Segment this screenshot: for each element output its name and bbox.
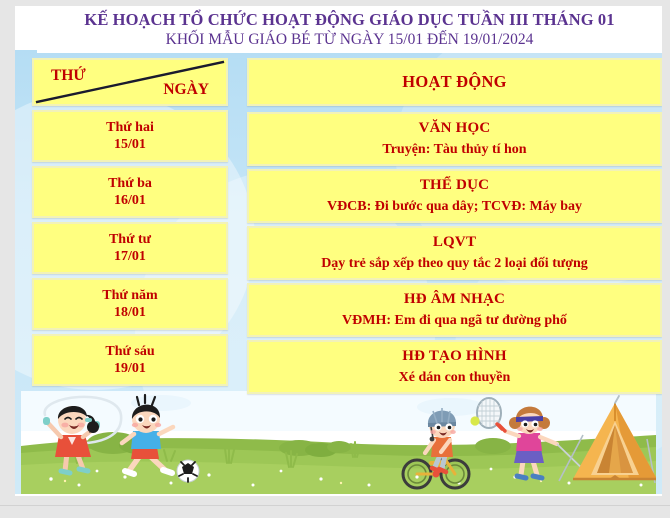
table-header-day-label: THỨ xyxy=(51,67,86,85)
activity-subtitle: VĐCB: Đi bước qua dây; TCVĐ: Máy bay xyxy=(327,198,582,216)
children-playing-illustration xyxy=(21,391,656,494)
table-row: THỂ DỤC VĐCB: Đi bước qua dây; TCVĐ: Máy… xyxy=(247,169,662,223)
table-header-date-label: NGÀY xyxy=(163,81,209,99)
title-banner: KẾ HOẠCH TỔ CHỨC HOẠT ĐỘNG GIÁO DỤC TUẦN… xyxy=(37,6,662,53)
table-header-day-date-cell: THỨ NGÀY xyxy=(32,58,228,106)
activity-subtitle: Xé dán con thuyền xyxy=(399,369,511,387)
activity-title: LQVT xyxy=(433,233,476,253)
page-frame-right xyxy=(662,0,670,518)
page-frame-left xyxy=(0,0,15,518)
table-header-activity-cell: HOẠT ĐỘNG xyxy=(247,58,662,106)
table-row: Thứ sáu 19/01 xyxy=(32,334,228,386)
day-name: Thứ hai xyxy=(106,119,154,137)
table-row: HĐ ÂM NHẠC VĐMH: Em đi qua ngã tư đường … xyxy=(247,283,662,337)
day-name: Thứ năm xyxy=(102,287,157,305)
day-date: 15/01 xyxy=(114,136,146,154)
activity-title: HĐ ÂM NHẠC xyxy=(404,290,505,310)
page-frame-bottom-divider xyxy=(0,505,670,506)
day-name: Thứ tư xyxy=(109,231,151,249)
page-title-line-2: KHỐI MẪU GIÁO BÉ TỪ NGÀY 15/01 ĐẾN 19/01… xyxy=(166,31,534,48)
slide-content: KẾ HOẠCH TỔ CHỨC HOẠT ĐỘNG GIÁO DỤC TUẦN… xyxy=(15,6,662,494)
day-date: 17/01 xyxy=(114,248,146,266)
table-row: Thứ năm 18/01 xyxy=(32,278,228,330)
table-row: Thứ ba 16/01 xyxy=(32,166,228,218)
page-frame-bottom xyxy=(0,496,670,518)
page-title-line-1: KẾ HOẠCH TỔ CHỨC HOẠT ĐỘNG GIÁO DỤC TUẦN… xyxy=(84,11,614,29)
table-row: LQVT Dạy trẻ sắp xếp theo quy tắc 2 loại… xyxy=(247,226,662,280)
day-date: 19/01 xyxy=(114,360,146,378)
table-row: Thứ tư 17/01 xyxy=(32,222,228,274)
day-name: Thứ ba xyxy=(108,175,152,193)
table-row: Thứ hai 15/01 xyxy=(32,110,228,162)
day-date: 16/01 xyxy=(114,192,146,210)
illustration-band xyxy=(21,391,656,494)
activity-title: HĐ TẠO HÌNH xyxy=(402,347,506,367)
schedule-table: THỨ NGÀY HOẠT ĐỘNG Thứ hai 15/01 VĂN HỌC… xyxy=(15,50,662,390)
table-row: VĂN HỌC Truyện: Tàu thủy tí hon xyxy=(247,112,662,166)
activity-subtitle: VĐMH: Em đi qua ngã tư đường phố xyxy=(342,312,567,330)
table-header-activity-label: HOẠT ĐỘNG xyxy=(402,72,507,92)
day-name: Thứ sáu xyxy=(105,343,154,361)
day-date: 18/01 xyxy=(114,304,146,322)
slide-canvas: KẾ HOẠCH TỔ CHỨC HOẠT ĐỘNG GIÁO DỤC TUẦN… xyxy=(0,0,670,518)
table-row: HĐ TẠO HÌNH Xé dán con thuyền xyxy=(247,340,662,394)
activity-subtitle: Truyện: Tàu thủy tí hon xyxy=(382,141,526,159)
activity-title: VĂN HỌC xyxy=(419,119,491,139)
activity-title: THỂ DỤC xyxy=(420,176,489,196)
activity-subtitle: Dạy trẻ sắp xếp theo quy tắc 2 loại đối … xyxy=(321,255,588,273)
